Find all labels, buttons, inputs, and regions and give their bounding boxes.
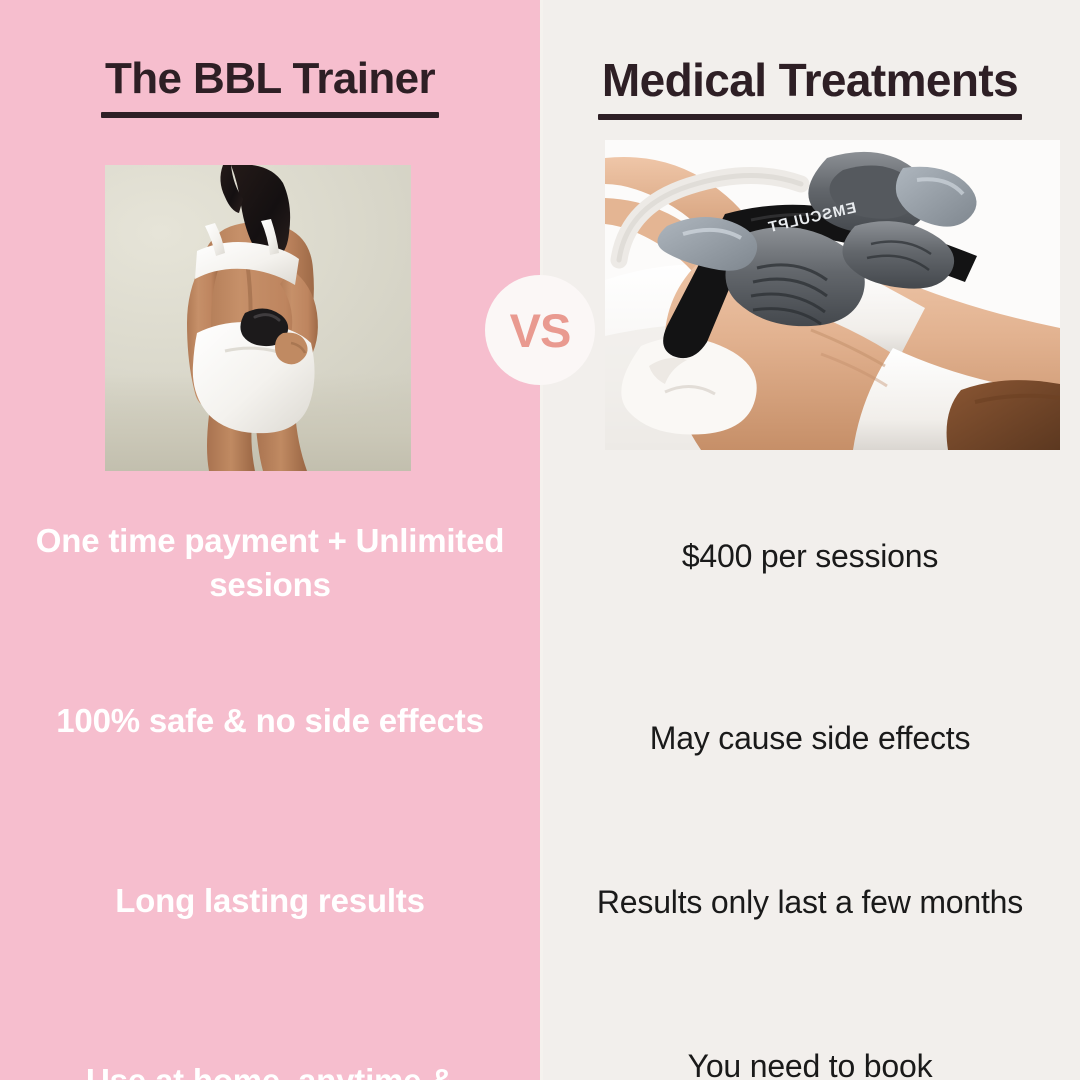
- bbl-trainer-product-photo: [105, 165, 411, 471]
- vs-badge-label: VS: [510, 307, 571, 354]
- list-item: May cause side effects: [592, 717, 1028, 853]
- column-divider: [540, 0, 543, 1080]
- right-column-heading: Medical Treatments: [540, 56, 1080, 120]
- emsculpt-treatment-illustration: EMSCULPT: [605, 140, 1060, 450]
- list-item: $400 per sessions: [592, 535, 1028, 671]
- left-heading-text: The BBL Trainer: [105, 56, 435, 118]
- left-benefits-list: One time payment + Unlimited sesions 100…: [0, 505, 540, 1080]
- medical-treatment-photo: EMSCULPT: [605, 140, 1060, 450]
- list-item: Use at home, anytime & anywhere: [26, 1059, 514, 1080]
- list-item: Results only last a few months: [592, 881, 1028, 1017]
- right-heading-text: Medical Treatments: [602, 56, 1018, 120]
- list-item: One time payment + Unlimited sesions: [26, 519, 514, 655]
- left-column-heading: The BBL Trainer: [0, 56, 540, 118]
- list-item: 100% safe & no side effects: [26, 699, 514, 835]
- comparison-infographic: The BBL Trainer: [0, 0, 1080, 1080]
- vs-badge: VS: [485, 275, 595, 385]
- woman-figure-illustration: [105, 165, 411, 471]
- list-item: Long lasting results: [26, 879, 514, 1015]
- left-column-bbl-trainer: The BBL Trainer: [0, 0, 540, 1080]
- right-drawbacks-list: $400 per sessions May cause side effects…: [540, 505, 1080, 1080]
- list-item: You need to book appointments: [592, 1045, 1028, 1080]
